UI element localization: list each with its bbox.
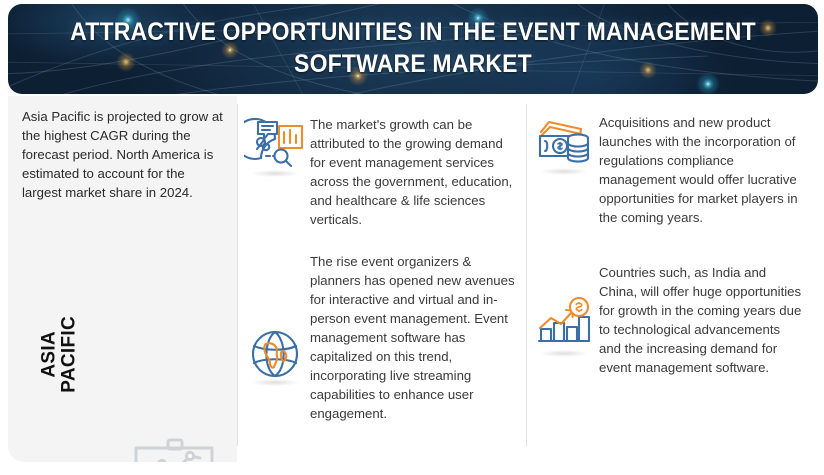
region-summary-text: Asia Pacific is projected to grow at the… [22, 107, 227, 202]
insight-text: Acquisitions and new product launches wi… [599, 112, 802, 227]
globe-icon [244, 325, 306, 383]
presentation-chart-magnifier-icon [124, 434, 234, 462]
icon-shadow [251, 170, 299, 177]
market-analysis-icon [244, 116, 306, 174]
icon-shadow [540, 168, 588, 175]
insight-item: The rise event organizers & planners has… [238, 251, 526, 423]
right-column: Acquisitions and new product launches wi… [527, 96, 810, 462]
insight-text: The market's growth can be attributed to… [310, 114, 518, 229]
growth-chart-dollar-icon [533, 296, 595, 354]
insight-item: The market's growth can be attributed to… [238, 114, 526, 229]
left-region-panel: Asia Pacific is projected to grow at the… [8, 96, 237, 462]
middle-column: The market's growth can be attributed to… [238, 96, 526, 462]
icon-shadow [540, 350, 588, 357]
content-card: Asia Pacific is projected to grow at the… [8, 96, 810, 462]
page-title: ATTRACTIVE OPPORTUNITIES IN THE EVENT MA… [40, 16, 785, 80]
icon-shadow [251, 379, 299, 386]
infographic-page: ATTRACTIVE OPPORTUNITIES IN THE EVENT MA… [0, 0, 824, 475]
insight-text: The rise event organizers & planners has… [310, 251, 518, 423]
money-cash-coins-icon [533, 114, 595, 172]
insight-item: Countries such, as India and China, will… [527, 262, 810, 377]
insight-text: Countries such, as India and China, will… [599, 262, 802, 377]
region-label: ASIA PACIFIC [40, 294, 81, 414]
insight-item: Acquisitions and new product launches wi… [527, 112, 810, 227]
header-banner: ATTRACTIVE OPPORTUNITIES IN THE EVENT MA… [8, 4, 818, 94]
